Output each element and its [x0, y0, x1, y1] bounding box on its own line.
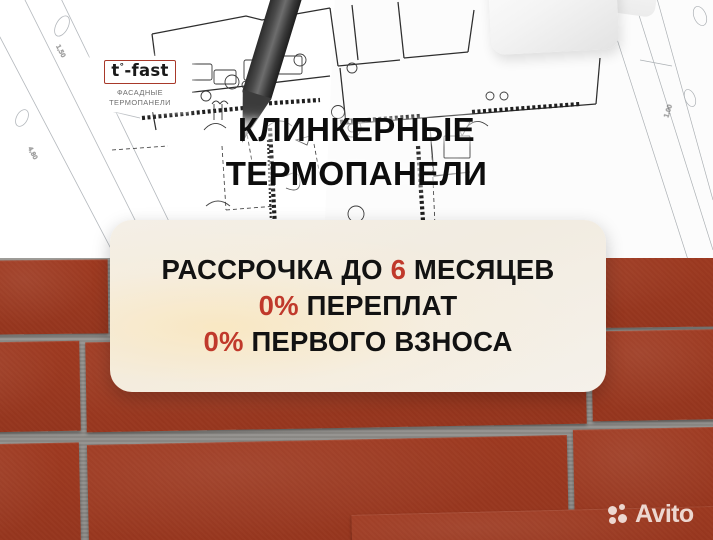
- brick-tile: [0, 442, 81, 540]
- brick-tile: [0, 259, 108, 334]
- avito-wordmark: Avito: [635, 502, 694, 527]
- white-object-primary: [486, 0, 619, 55]
- offer-line-no-downpayment: 0% ПЕРВОГО ВЗНОСА: [203, 324, 512, 360]
- brand-logo-subtitle: ФАСАДНЫЕ ТЕРМОПАНЕЛИ: [109, 88, 171, 108]
- brick-tile: [0, 341, 81, 434]
- offer-card: РАССРОЧКА ДО 6 МЕСЯЦЕВ 0% ПЕРЕПЛАТ 0% ПЕ…: [110, 220, 606, 392]
- offer-line3-accent: 0%: [203, 326, 243, 357]
- offer-line-no-overpayment: 0% ПЕРЕПЛАТ: [259, 288, 458, 324]
- svg-text:1,50: 1,50: [54, 44, 66, 59]
- headline-line-2: ТЕРМОПАНЕЛИ: [0, 152, 713, 196]
- advertisement-banner: 1,50 4,80 1,00 t°-fast: [0, 0, 713, 540]
- avito-watermark: Avito: [608, 502, 694, 527]
- brand-logo-badge: t°-fast ФАСАДНЫЕ ТЕРМОПАНЕЛИ: [88, 56, 192, 112]
- brand-subtitle-line1: ФАСАДНЫЕ: [117, 88, 163, 97]
- offer-line-installment: РАССРОЧКА ДО 6 МЕСЯЦЕВ: [162, 252, 555, 288]
- offer-line2-accent: 0%: [259, 290, 299, 321]
- headline-line-1: КЛИНКЕРНЫЕ: [0, 108, 713, 152]
- brand-subtitle-line2: ТЕРМОПАНЕЛИ: [109, 98, 171, 107]
- avito-dots-icon: [608, 504, 630, 526]
- offer-line3-suffix: ПЕРВОГО ВЗНОСА: [244, 326, 513, 357]
- offer-line1-prefix: РАССРОЧКА ДО: [162, 254, 391, 285]
- brick-tile: [591, 329, 713, 422]
- page-title: КЛИНКЕРНЫЕ ТЕРМОПАНЕЛИ: [0, 108, 713, 195]
- offer-line2-suffix: ПЕРЕПЛАТ: [299, 290, 458, 321]
- offer-line1-suffix: МЕСЯЦЕВ: [406, 254, 554, 285]
- brand-logo-mark: t°-fast: [104, 60, 175, 84]
- brand-logo-letter: t: [111, 61, 119, 80]
- offer-line1-accent: 6: [391, 254, 407, 285]
- brand-logo-suffix: -fast: [124, 61, 168, 80]
